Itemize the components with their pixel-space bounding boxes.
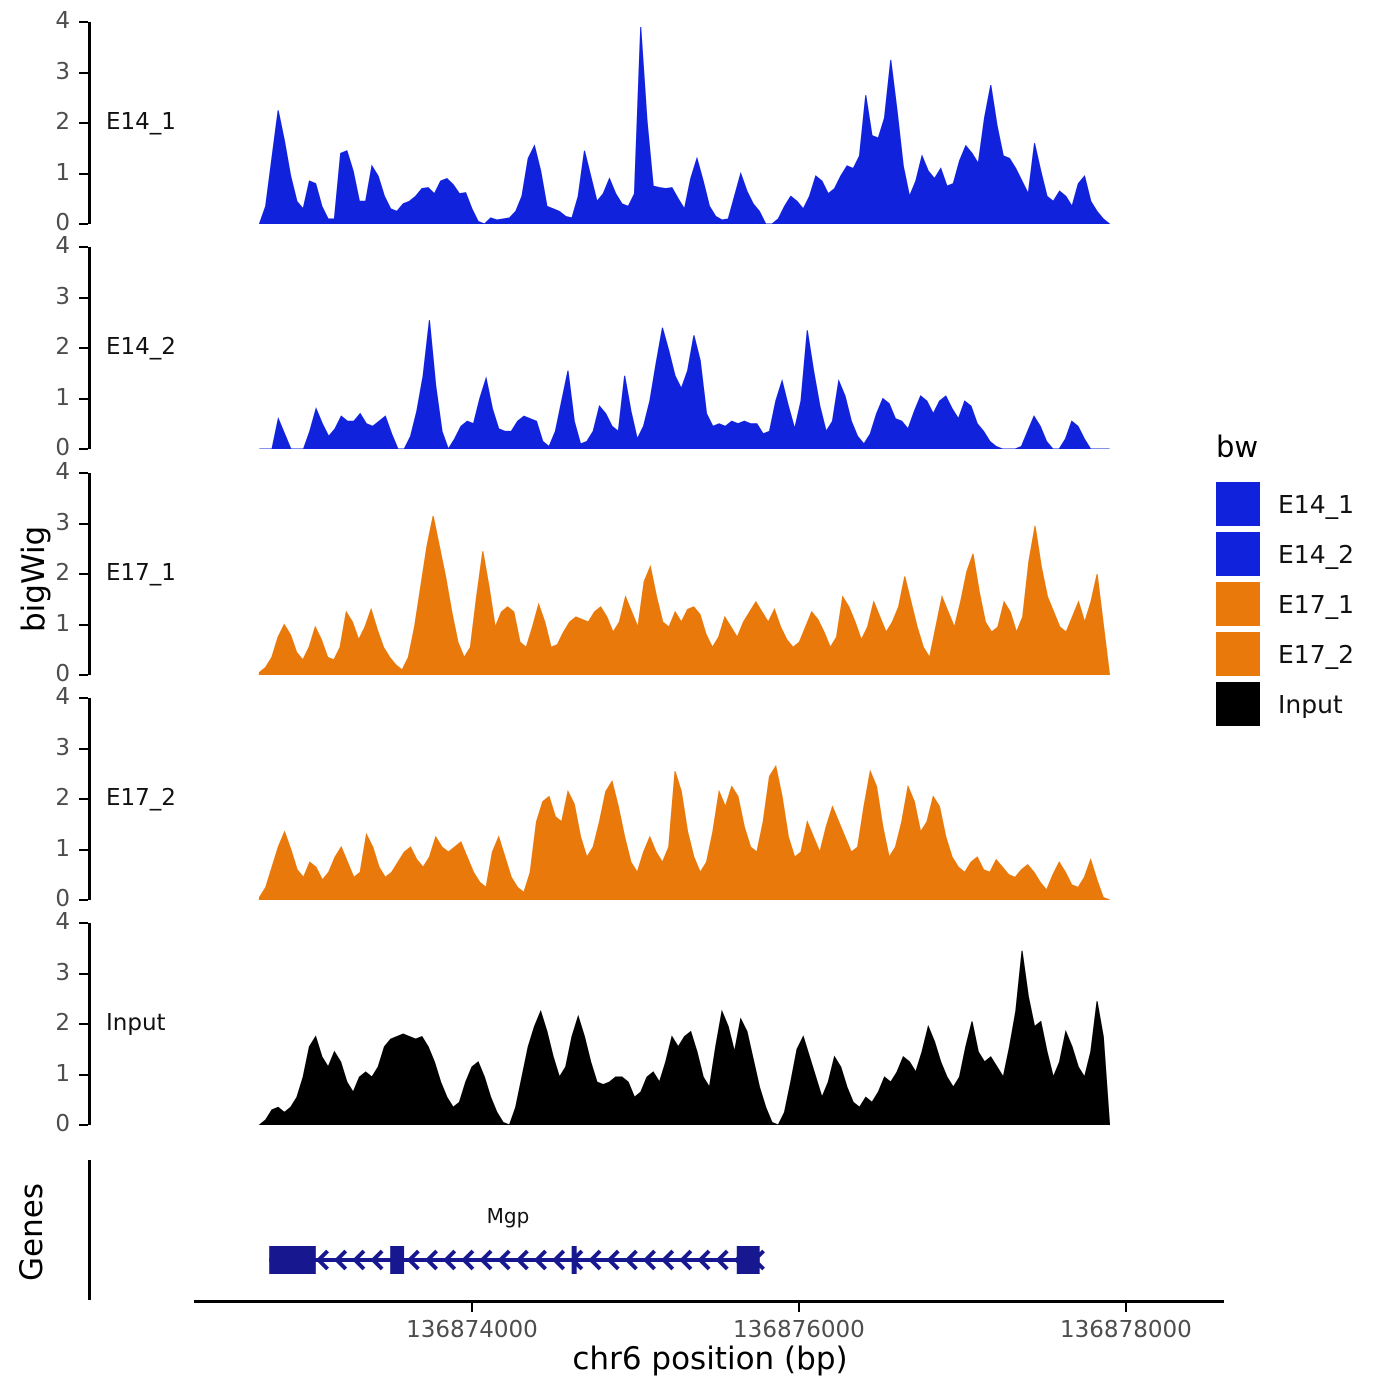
- y-tick-label: 2: [24, 1012, 70, 1035]
- y-tick-label: 3: [24, 962, 70, 985]
- legend-item-e14_1[interactable]: E14_1: [1216, 482, 1354, 526]
- y-tick: [79, 21, 88, 23]
- track-plot-area: [91, 923, 1224, 1125]
- y-tick: [79, 122, 88, 124]
- y-tick-label: 0: [24, 663, 70, 686]
- signal-area-e14_2: [259, 320, 1109, 449]
- legend-item-label: Input: [1278, 690, 1343, 719]
- x-tick: [471, 1303, 473, 1312]
- y-tick: [79, 398, 88, 400]
- legend-color-swatch: [1216, 682, 1260, 726]
- y-tick-label: 3: [24, 286, 70, 309]
- signal-area-input: [259, 951, 1109, 1125]
- y-tick: [79, 347, 88, 349]
- y-tick-label: 0: [24, 437, 70, 460]
- y-tick: [79, 674, 88, 676]
- track-plot-area: [91, 473, 1224, 675]
- y-tick-label: 2: [24, 562, 70, 585]
- gene-label-mgp: Mgp: [418, 1204, 598, 1228]
- y-tick: [79, 523, 88, 525]
- legend-title: bw: [1216, 430, 1258, 464]
- y-tick: [79, 297, 88, 299]
- y-tick-label: 2: [24, 111, 70, 134]
- legend-item-label: E17_1: [1278, 590, 1354, 619]
- x-axis-line: [194, 1300, 1224, 1303]
- legend-color-swatch: [1216, 632, 1260, 676]
- signal-area-e14_1: [259, 27, 1109, 224]
- y-tick: [79, 697, 88, 699]
- y-tick: [79, 223, 88, 225]
- y-tick: [79, 472, 88, 474]
- y-tick-label: 1: [24, 1063, 70, 1086]
- y-tick: [79, 849, 88, 851]
- legend-color-swatch: [1216, 532, 1260, 576]
- legend-item-label: E14_2: [1278, 540, 1354, 569]
- y-axis-title-bigwig: bigWig: [16, 472, 52, 632]
- gene-panel: Mgp: [88, 1160, 1224, 1300]
- y-tick-label: 2: [24, 336, 70, 359]
- track-signal-svg: [91, 22, 1224, 224]
- y-tick-label: 3: [24, 61, 70, 84]
- x-tick: [798, 1303, 800, 1312]
- y-tick-label: 1: [24, 838, 70, 861]
- y-axis-title-genes: Genes: [14, 1141, 50, 1281]
- y-tick-label: 4: [24, 10, 70, 33]
- y-tick-label: 4: [24, 235, 70, 258]
- legend-color-swatch: [1216, 482, 1260, 526]
- legend-item-input[interactable]: Input: [1216, 682, 1343, 726]
- y-tick-label: 3: [24, 512, 70, 535]
- x-axis-title: chr6 position (bp): [196, 1341, 1224, 1377]
- track-panel-e14_2: 01234E14_2: [88, 247, 1224, 449]
- x-tick-label: 136874000: [362, 1317, 582, 1343]
- track-panel-e14_1: 01234E14_1: [88, 22, 1224, 224]
- track-plot-area: [91, 698, 1224, 900]
- y-tick: [79, 448, 88, 450]
- y-tick: [79, 922, 88, 924]
- y-tick-label: 4: [24, 461, 70, 484]
- y-tick-label: 1: [24, 387, 70, 410]
- legend-color-swatch: [1216, 582, 1260, 626]
- y-tick-label: 4: [24, 911, 70, 934]
- y-tick: [79, 624, 88, 626]
- y-tick-label: 1: [24, 162, 70, 185]
- legend: bw E14_1E14_2E17_1E17_2Input: [1216, 430, 1396, 690]
- gene-exon-2: [390, 1246, 404, 1274]
- y-tick: [79, 173, 88, 175]
- legend-item-e14_2[interactable]: E14_2: [1216, 532, 1354, 576]
- y-tick-label: 1: [24, 613, 70, 636]
- track-signal-svg: [91, 247, 1224, 449]
- y-tick-label: 2: [24, 787, 70, 810]
- legend-item-label: E14_1: [1278, 490, 1354, 519]
- y-tick: [79, 246, 88, 248]
- gene-exon-4: [737, 1246, 760, 1274]
- y-tick-label: 4: [24, 686, 70, 709]
- x-tick: [1125, 1303, 1127, 1312]
- x-tick-label: 136878000: [1016, 1317, 1236, 1343]
- y-tick: [79, 1023, 88, 1025]
- track-panel-input: 01234Input: [88, 923, 1224, 1125]
- y-tick: [79, 973, 88, 975]
- gene-exon-1: [269, 1246, 316, 1274]
- track-plot-area: [91, 247, 1224, 449]
- signal-area-e17_2: [259, 766, 1109, 900]
- y-tick: [79, 798, 88, 800]
- y-tick: [79, 1074, 88, 1076]
- track-signal-svg: [91, 473, 1224, 675]
- y-tick: [79, 899, 88, 901]
- track-signal-svg: [91, 923, 1224, 1125]
- signal-area-e17_1: [259, 516, 1109, 675]
- track-panel-e17_2: 01234E17_2: [88, 698, 1224, 900]
- x-tick-label: 136876000: [689, 1317, 909, 1343]
- y-tick-label: 3: [24, 737, 70, 760]
- y-tick-label: 0: [24, 888, 70, 911]
- legend-item-label: E17_2: [1278, 640, 1354, 669]
- y-tick: [79, 573, 88, 575]
- gene-plot-area: [91, 1160, 1224, 1300]
- gene-exon-3: [572, 1246, 577, 1274]
- y-tick: [79, 1124, 88, 1126]
- y-tick: [79, 748, 88, 750]
- y-tick: [79, 72, 88, 74]
- legend-item-e17_1[interactable]: E17_1: [1216, 582, 1354, 626]
- track-panel-e17_1: 01234E17_1: [88, 473, 1224, 675]
- legend-item-e17_2[interactable]: E17_2: [1216, 632, 1354, 676]
- track-signal-svg: [91, 698, 1224, 900]
- y-tick-label: 0: [24, 1113, 70, 1136]
- track-plot-area: [91, 22, 1224, 224]
- y-tick-label: 0: [24, 212, 70, 235]
